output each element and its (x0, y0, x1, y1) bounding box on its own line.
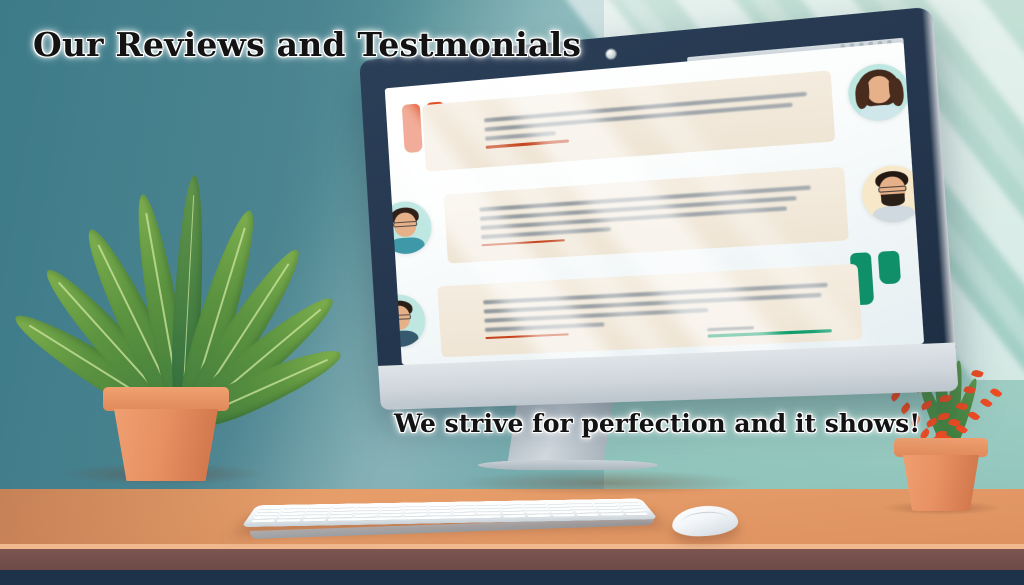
avatar[interactable] (385, 200, 433, 256)
accent-underline (486, 140, 569, 149)
desk-front-panel (0, 549, 1024, 571)
testimonial-text (479, 178, 848, 250)
pot-body (903, 455, 979, 511)
tagline-text: We strive for perfection and it shows! (394, 409, 920, 438)
poster-scene: Our Reviews and Testmonials We strive fo… (0, 0, 1024, 585)
avatar[interactable] (385, 293, 427, 348)
terracotta-pot (898, 438, 984, 510)
pot-rim (894, 438, 988, 457)
monitor-screen[interactable] (385, 42, 924, 365)
testimonial-text (484, 86, 835, 153)
pot-rim (103, 387, 229, 411)
page-title: Our Reviews and Testmonials (33, 25, 581, 64)
keyboard-keys (251, 500, 648, 522)
testimonial-card[interactable] (444, 167, 849, 264)
monitor-stand-foot (475, 460, 661, 470)
mouse-seam (681, 510, 728, 529)
avatar[interactable] (860, 164, 924, 225)
pot-body (114, 409, 218, 481)
floor (0, 570, 1024, 585)
testimonials-page (385, 42, 924, 365)
desktop-monitor (370, 60, 900, 410)
avatar[interactable] (847, 61, 912, 122)
reviewer-credit-label (707, 326, 754, 332)
testimonial-card[interactable] (437, 264, 862, 357)
accent-underline (482, 239, 565, 247)
terracotta-pot (108, 387, 224, 479)
monitor-shadow (455, 470, 755, 496)
large-leafy-plant (38, 145, 298, 475)
testimonial-card[interactable] (422, 70, 835, 171)
webcam-icon (606, 49, 616, 59)
accent-underline (485, 333, 568, 339)
monitor-bezel (359, 6, 958, 409)
